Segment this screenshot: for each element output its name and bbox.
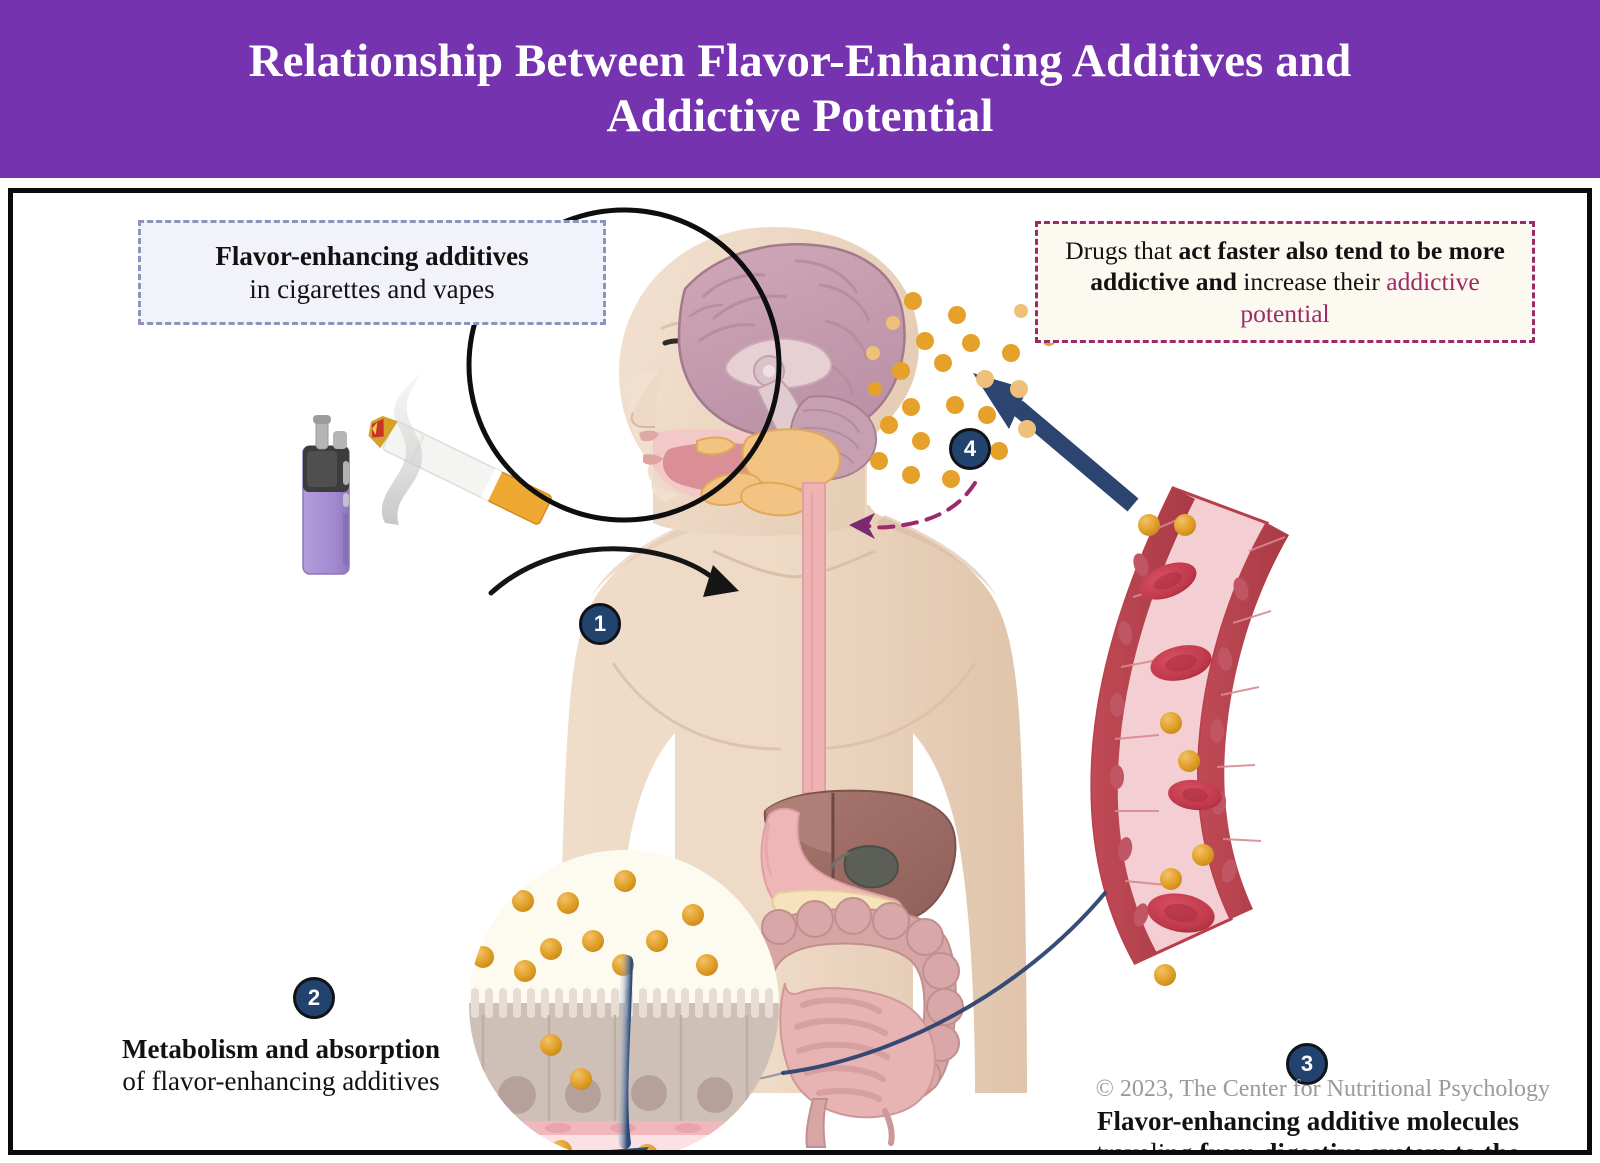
- gallbladder: [845, 846, 898, 887]
- rectum: [806, 1099, 827, 1147]
- absorption-arrow-shaft: [622, 961, 627, 1143]
- circulation-arrow: [973, 373, 1133, 505]
- esophagus: [803, 483, 825, 793]
- appendix: [885, 1111, 892, 1143]
- diagram-frame: Flavor-enhancing additives in cigarettes…: [8, 188, 1592, 1155]
- callout-additives-line1: Flavor-enhancing additives: [215, 240, 528, 273]
- step-3-description: Flavor-enhancing additive molecules trav…: [1073, 1105, 1543, 1155]
- infographic-page: Relationship Between Flavor-Enhancing Ad…: [0, 0, 1600, 1163]
- step-2-description: Metabolism and absorption of flavor-enha…: [121, 1033, 441, 1098]
- step-badge-1[interactable]: 1: [579, 603, 621, 645]
- vape-device: [303, 415, 349, 574]
- callout-flavor-additives: Flavor-enhancing additives in cigarettes…: [138, 220, 606, 325]
- blood-vessel-cross-section: [1092, 488, 1289, 986]
- callout-additives-line2: in cigarettes and vapes: [249, 273, 494, 306]
- page-title: Relationship Between Flavor-Enhancing Ad…: [249, 34, 1352, 143]
- step-badge-2[interactable]: 2: [293, 977, 335, 1019]
- header-band: Relationship Between Flavor-Enhancing Ad…: [0, 0, 1600, 178]
- callout-addictive-potential: Drugs that act faster also tend to be mo…: [1035, 221, 1535, 343]
- copyright-credit: © 2023, The Center for Nutritional Psych…: [950, 1076, 1550, 1103]
- lit-cigarette: [362, 371, 552, 525]
- diagram-stage: Flavor-enhancing additives in cigarettes…: [13, 193, 1587, 1150]
- thalamus-core: [763, 365, 775, 377]
- step-badge-4[interactable]: 4: [949, 428, 991, 470]
- callout-addictive-text: Drugs that act faster also tend to be mo…: [1050, 235, 1520, 328]
